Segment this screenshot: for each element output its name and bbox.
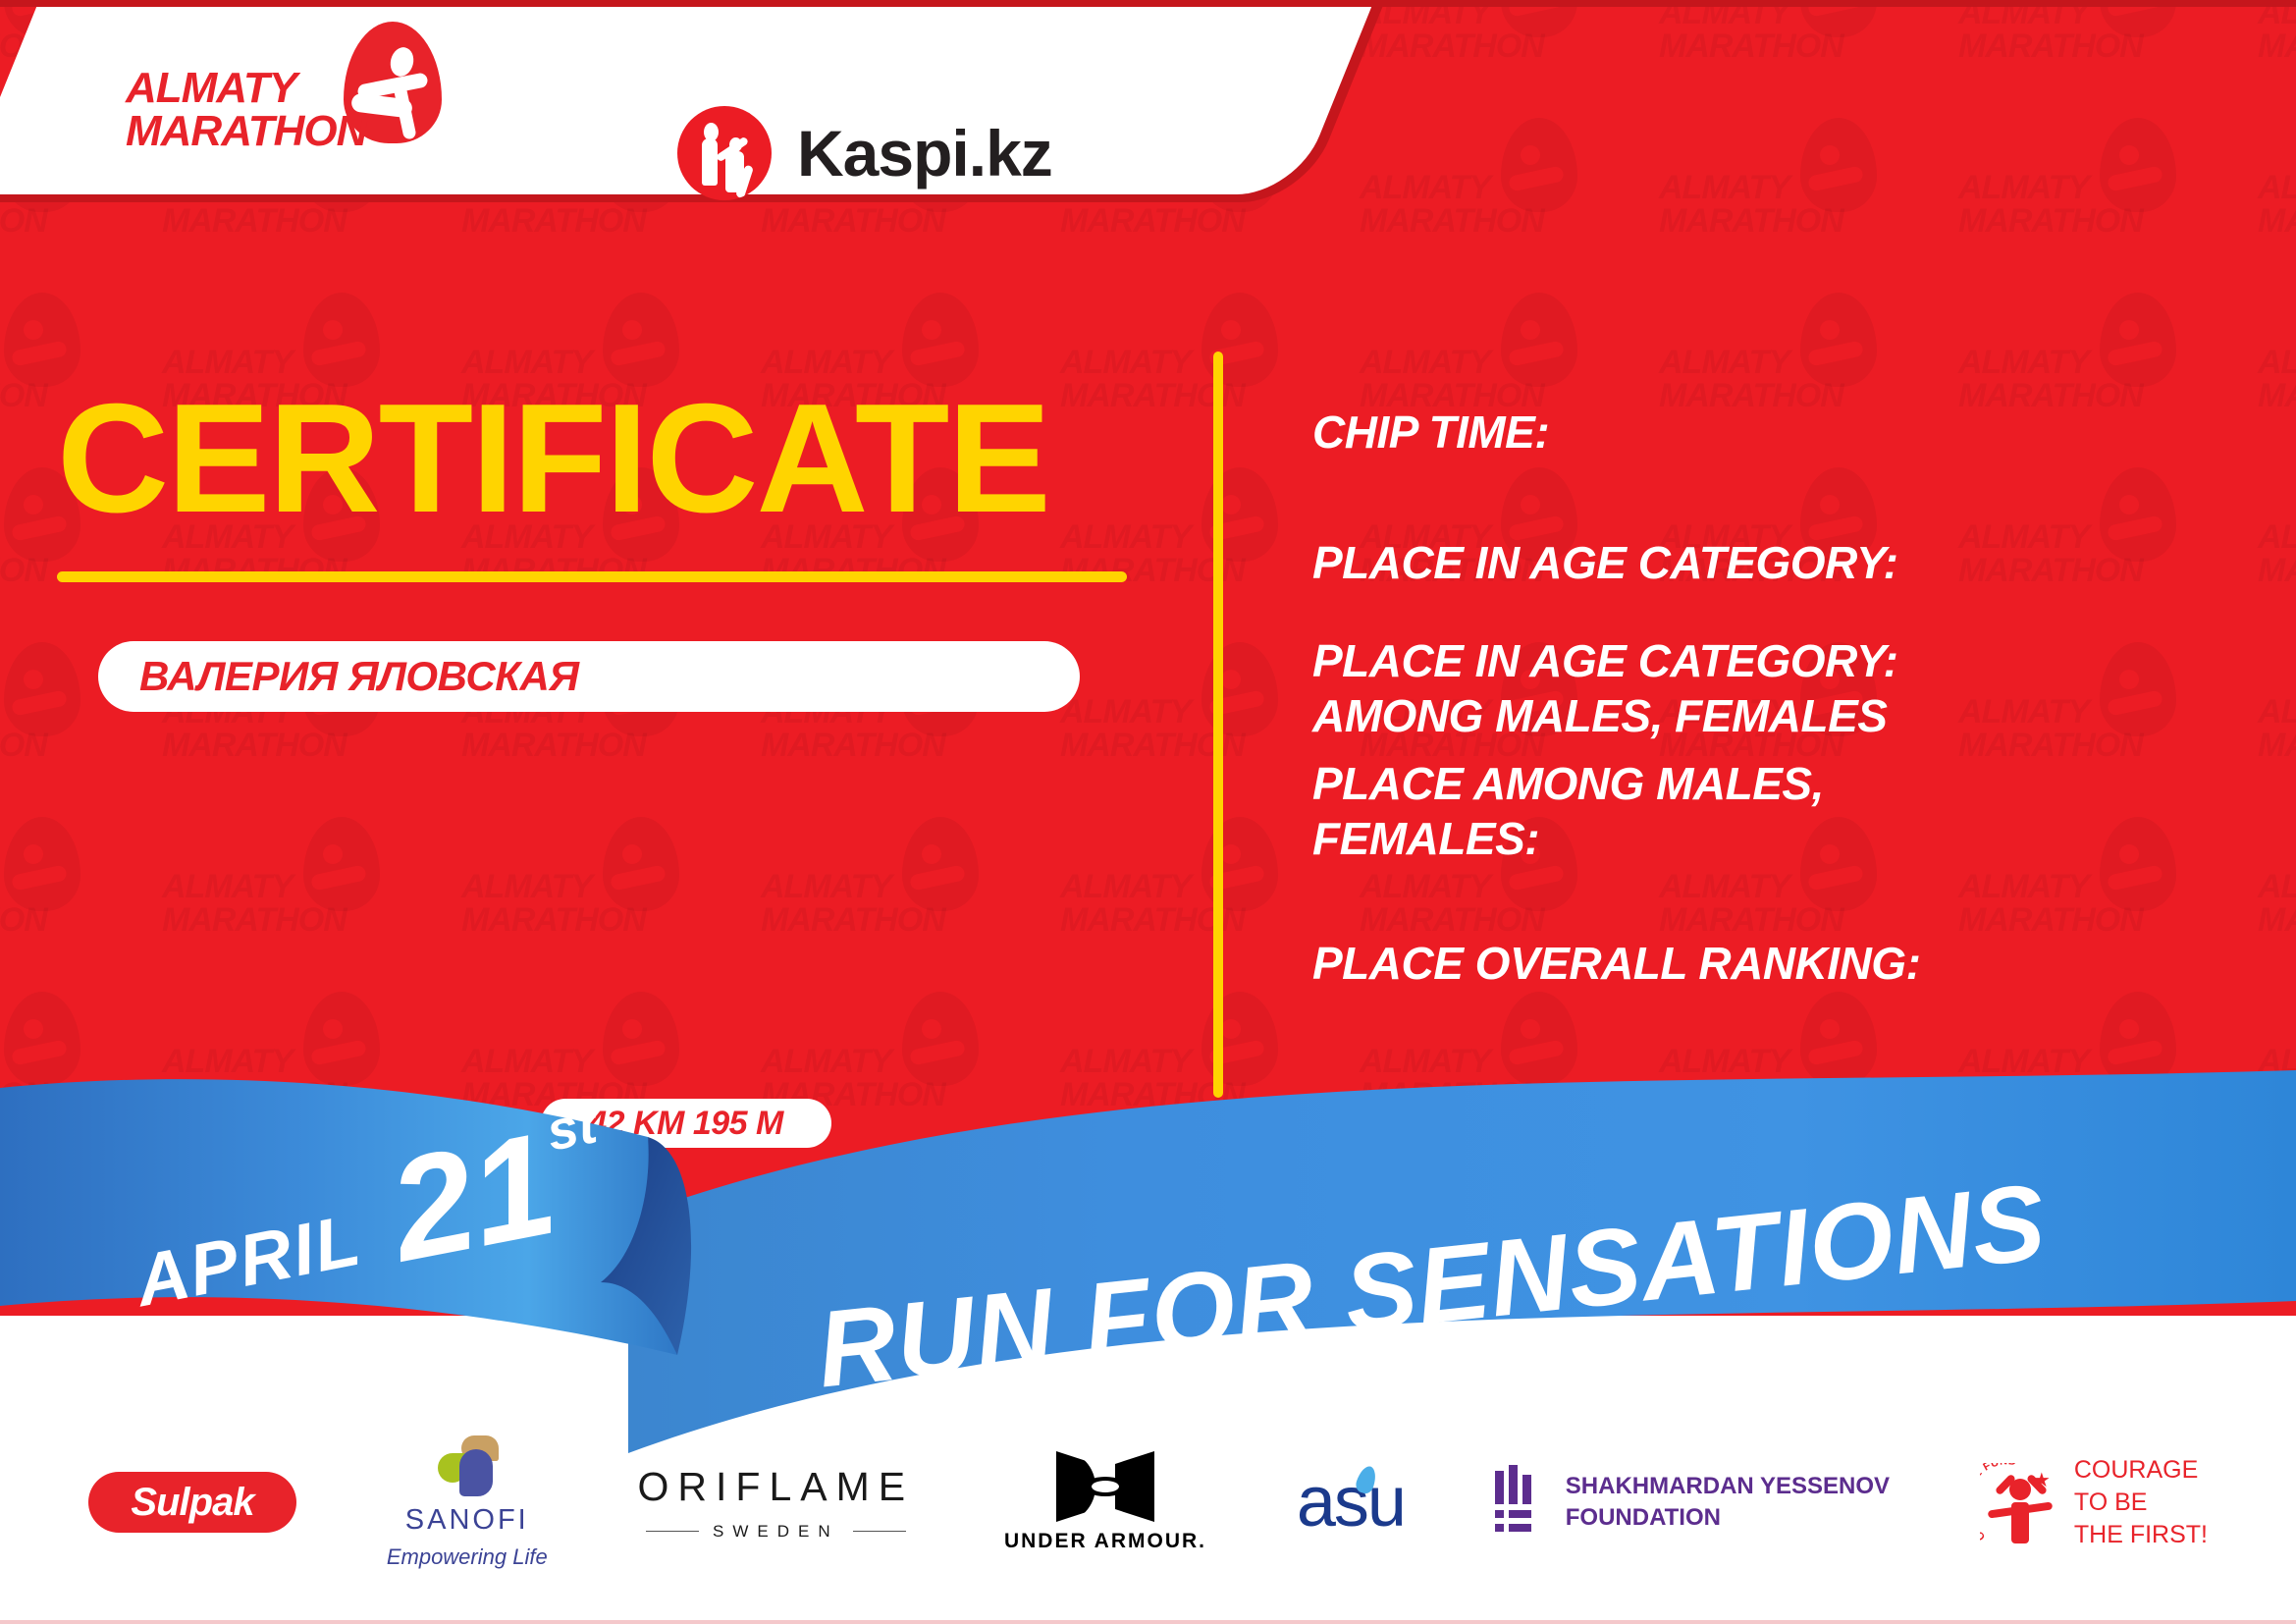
sponsor-logo-sanofi: SANOFI Empowering Life bbox=[387, 1435, 548, 1570]
stat-label-place-age-category: PLACE IN AGE CATEGORY: bbox=[1312, 535, 1897, 590]
corporate-fund-line-3: THE FIRST! bbox=[2074, 1519, 2208, 1551]
certificate-page: ALMATYMARATHONALMATYMARATHONALMATYMARATH… bbox=[0, 0, 2296, 1624]
stat-row-place-age-category-among: PLACE IN AGE CATEGORY: AMONG MALES, FEMA… bbox=[1312, 633, 1897, 743]
stat-label-place-age-category-among: PLACE IN AGE CATEGORY: AMONG MALES, FEMA… bbox=[1312, 633, 1897, 743]
sponsor-logo-sulpak: Sulpak bbox=[88, 1472, 296, 1533]
title-divider bbox=[57, 571, 1127, 582]
stat-row-place-overall-ranking: PLACE OVERALL RANKING: bbox=[1312, 936, 1920, 991]
watermark-tile: ALMATYMARATHON bbox=[1659, 0, 1904, 98]
kaspi-logo: Kaspi.kz bbox=[677, 106, 1052, 200]
stat-row-place-among-males-females: PLACE AMONG MALES, FEMALES: bbox=[1312, 756, 1824, 866]
corporate-fund-slogan: COURAGE TO BE THE FIRST! bbox=[2074, 1454, 2208, 1551]
stat-row-place-age-category: PLACE IN AGE CATEGORY: bbox=[1312, 535, 1897, 590]
almaty-marathon-logo: ALMATY MARATHON bbox=[126, 59, 459, 177]
sponsor-bar: Sulpak SANOFI Empowering Life ORIFLAME S… bbox=[0, 1404, 2296, 1600]
stat-label-place-overall-ranking: PLACE OVERALL RANKING: bbox=[1312, 936, 1920, 991]
oriflame-country: SWEDEN bbox=[713, 1522, 839, 1542]
header-content: ALMATY MARATHON Kaspi.kz bbox=[0, 0, 1178, 196]
sponsor-logo-yessenov-foundation: SHAKHMARDAN YESSENOV FOUNDATION bbox=[1495, 1465, 1890, 1540]
corporate-fund-icon: CORPORATE FUND ★ bbox=[1980, 1457, 2062, 1547]
sanofi-tagline: Empowering Life bbox=[387, 1544, 548, 1570]
sponsor-logo-under-armour: UNDER ARMOUR. bbox=[1004, 1451, 1206, 1553]
watermark-tile: ALMATYMARATHON bbox=[1958, 116, 2204, 273]
athlete-name-field: ВАЛЕРИЯ ЯЛОВСКАЯ bbox=[98, 641, 1080, 712]
stat-label-place-among-males-females: PLACE AMONG MALES, FEMALES: bbox=[1312, 756, 1824, 866]
sanofi-icon bbox=[436, 1435, 499, 1496]
yessenov-line-1: SHAKHMARDAN YESSENOV bbox=[1566, 1471, 1890, 1502]
logo-line-marathon: MARATHON bbox=[126, 110, 366, 153]
sponsor-logo-oriflame: ORIFLAME SWEDEN bbox=[638, 1464, 915, 1542]
bottom-border-line bbox=[0, 1620, 2296, 1624]
watermark-tile: ALMATYMARATHON bbox=[1958, 0, 2204, 98]
stat-label-chip-time: CHIP TIME: bbox=[1312, 405, 1549, 460]
under-armour-icon bbox=[1056, 1451, 1154, 1522]
corporate-fund-line-2: TO BE bbox=[2074, 1487, 2208, 1519]
athlete-name-value: ВАЛЕРИЯ ЯЛОВСКАЯ bbox=[98, 653, 578, 700]
sanofi-wordmark: SANOFI bbox=[405, 1504, 529, 1537]
page-title: CERTIFICATE bbox=[57, 381, 1049, 536]
kaspi-people-icon bbox=[677, 106, 772, 200]
right-column: CHIP TIME: PLACE IN AGE CATEGORY: PLACE … bbox=[1256, 295, 2296, 1110]
watermark-tile: ALMATYMARATHON bbox=[2258, 116, 2296, 273]
sponsor-logo-asu: asu bbox=[1297, 1462, 1405, 1543]
oriflame-rule-left bbox=[646, 1531, 699, 1532]
oriflame-rule-right bbox=[853, 1531, 906, 1532]
ribbon-day: 21 bbox=[375, 1103, 567, 1293]
asu-wordmark: asu bbox=[1297, 1462, 1405, 1543]
almaty-marathon-wordmark: ALMATY MARATHON bbox=[126, 67, 366, 153]
oriflame-wordmark: ORIFLAME bbox=[638, 1464, 915, 1510]
column-divider bbox=[1213, 352, 1223, 1098]
left-column: CERTIFICATE ВАЛЕРИЯ ЯЛОВСКАЯ DISTANCE: 4… bbox=[0, 295, 1158, 1100]
watermark-tile: ALMATYMARATHON bbox=[1360, 116, 1605, 273]
sponsor-logo-corporate-fund: CORPORATE FUND ★ COURAGE TO BE THE FIRST… bbox=[1980, 1454, 2208, 1551]
oriflame-subline: SWEDEN bbox=[646, 1522, 906, 1542]
watermark-tile: ALMATYMARATHON bbox=[2258, 0, 2296, 98]
logo-line-almaty: ALMATY bbox=[126, 67, 366, 110]
top-border-line bbox=[0, 0, 2296, 7]
corporate-fund-line-1: COURAGE bbox=[2074, 1454, 2208, 1487]
watermark-tile: ALMATYMARATHON bbox=[1360, 0, 1605, 98]
kaspi-wordmark: Kaspi.kz bbox=[797, 121, 1052, 186]
yessenov-bars-icon bbox=[1495, 1465, 1546, 1540]
yessenov-line-2: FOUNDATION bbox=[1566, 1502, 1890, 1534]
watermark-tile: ALMATYMARATHON bbox=[1659, 116, 1904, 273]
under-armour-wordmark: UNDER ARMOUR. bbox=[1004, 1530, 1206, 1553]
ribbon-ordinal: st bbox=[542, 1092, 604, 1163]
stat-row-chip-time: CHIP TIME: bbox=[1312, 405, 1549, 460]
